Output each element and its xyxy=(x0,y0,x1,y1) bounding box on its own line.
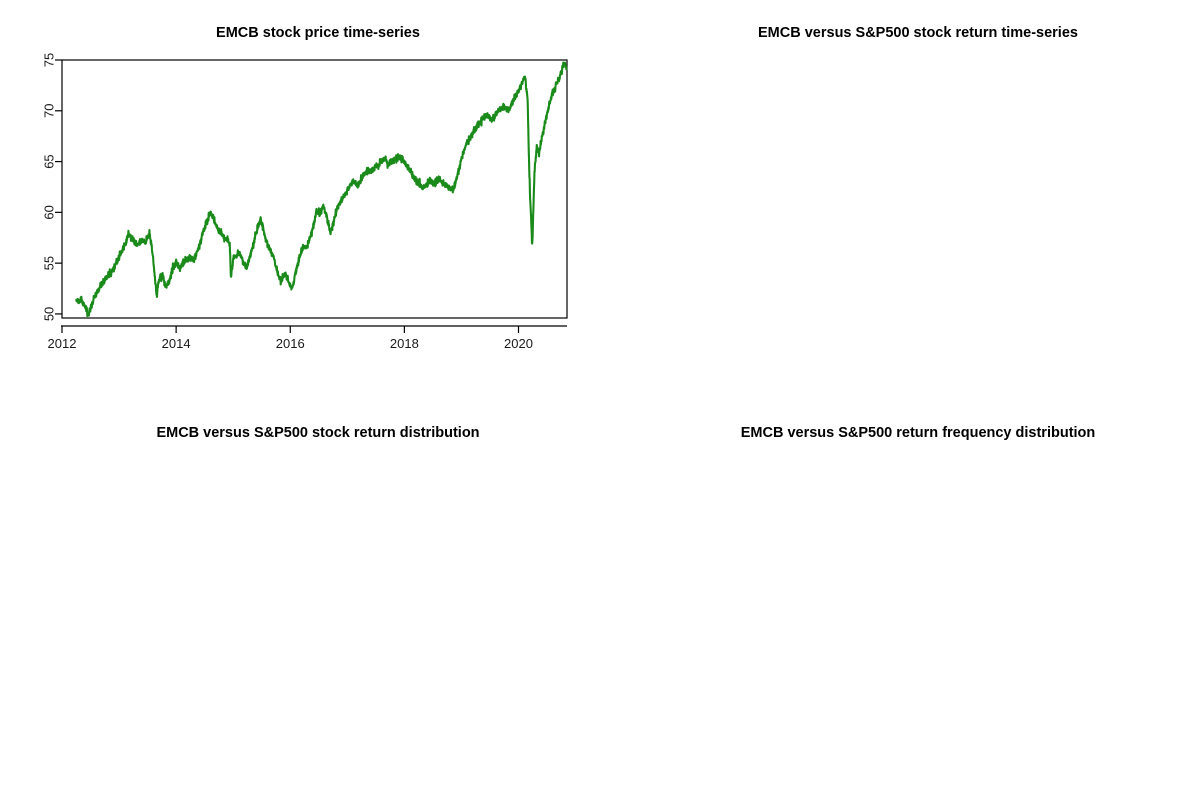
y-tick-label: 70 xyxy=(41,104,56,118)
panel-return-distribution: EMCB versus S&P500 stock return distribu… xyxy=(0,400,600,800)
x-tick-label: 2014 xyxy=(162,336,191,351)
price-timeseries-svg: EMCB stock price time-series 50556065707… xyxy=(0,0,600,400)
y-tick-label: 65 xyxy=(41,154,56,168)
y-tick-label: 50 xyxy=(41,307,56,321)
panel-title-return-dist: EMCB versus S&P500 stock return distribu… xyxy=(156,425,479,441)
x-tick-label: 2016 xyxy=(276,336,305,351)
y-tick-label: 75 xyxy=(41,53,56,67)
figure-panel-grid: EMCB stock price time-series 50556065707… xyxy=(0,0,1200,800)
panel-return-frequency: EMCB versus S&P500 return frequency dist… xyxy=(600,400,1200,800)
return-timeseries-svg: EMCB versus S&P500 stock return time-ser… xyxy=(600,0,1200,400)
return-distribution-svg: EMCB versus S&P500 stock return distribu… xyxy=(0,400,600,800)
panel-title-return-freq: EMCB versus S&P500 return frequency dist… xyxy=(741,425,1096,441)
x-tick-label: 2012 xyxy=(48,336,77,351)
x-tick-label: 2020 xyxy=(504,336,533,351)
panel-price-timeseries: EMCB stock price time-series 50556065707… xyxy=(0,0,600,400)
x-tick-label: 2018 xyxy=(390,336,419,351)
panel-title-price: EMCB stock price time-series xyxy=(216,25,420,41)
return-frequency-svg: EMCB versus S&P500 return frequency dist… xyxy=(600,400,1200,800)
panel-return-timeseries: EMCB versus S&P500 stock return time-ser… xyxy=(600,0,1200,400)
panel-title-return-ts: EMCB versus S&P500 stock return time-ser… xyxy=(758,25,1078,41)
price-plot-area: 50556065707520122014201620182020 xyxy=(41,53,567,351)
plot-box xyxy=(62,60,567,318)
price-line-emcb xyxy=(76,63,566,316)
y-tick-label: 60 xyxy=(41,205,56,219)
y-tick-label: 55 xyxy=(41,256,56,270)
